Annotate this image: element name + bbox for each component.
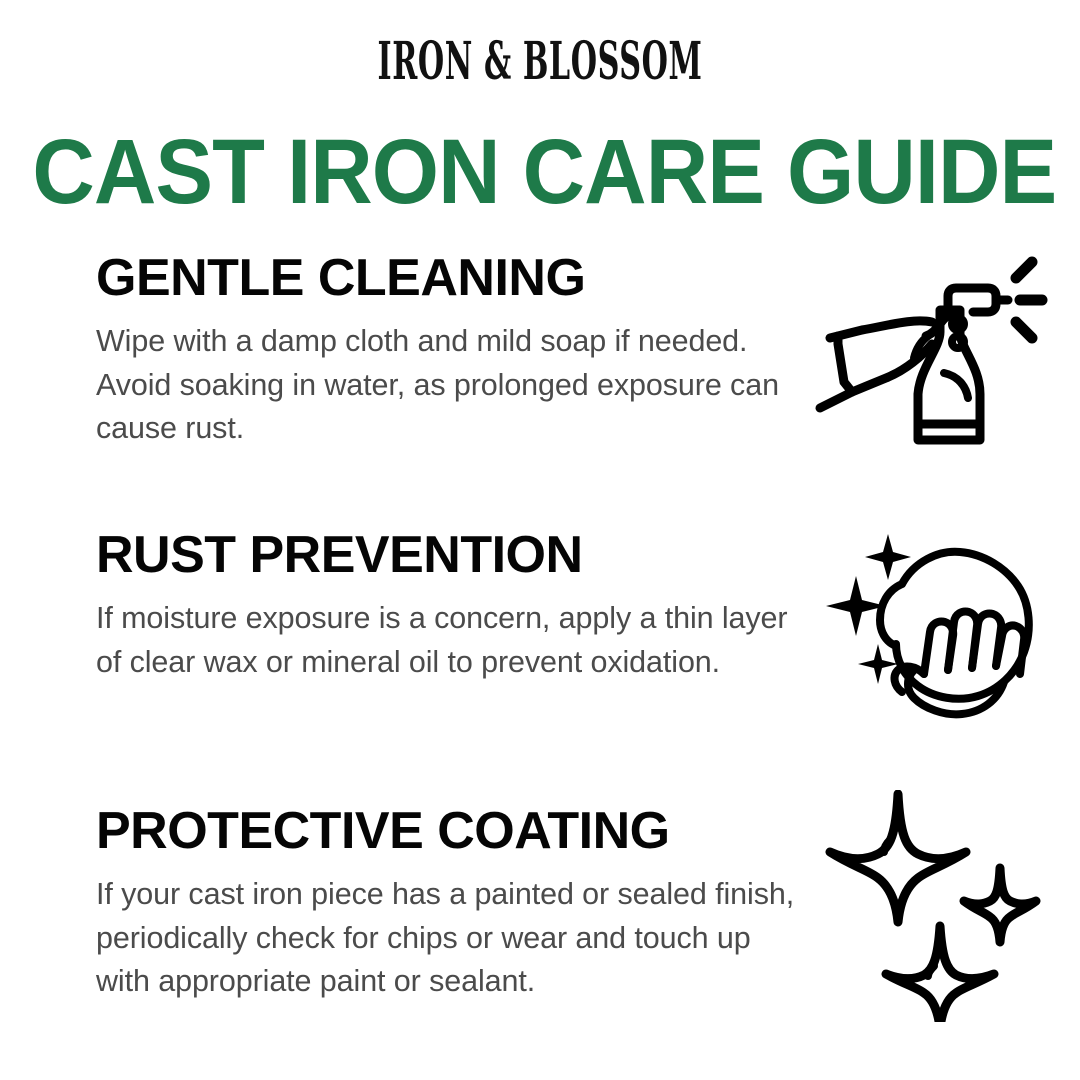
section-body: Wipe with a damp cloth and mild soap if … bbox=[96, 320, 806, 451]
section-protective-coating: PROTECTIVE COATING If your cast iron pie… bbox=[96, 803, 808, 1004]
brand-wordmark: IRON & BLOSSOM bbox=[227, 36, 853, 88]
care-guide-poster: IRON & BLOSSOM CAST IRON CARE GUIDE GENT… bbox=[0, 0, 1080, 1080]
spray-bottle-in-hand-icon bbox=[808, 252, 1050, 462]
section-body: If moisture exposure is a concern, apply… bbox=[96, 597, 806, 684]
section-heading: PROTECTIVE COATING bbox=[96, 803, 808, 859]
section-heading: GENTLE CLEANING bbox=[96, 250, 808, 306]
section-body: If your cast iron piece has a painted or… bbox=[96, 873, 806, 1004]
section-gentle-cleaning: GENTLE CLEANING Wipe with a damp cloth a… bbox=[96, 250, 808, 451]
page-title: CAST IRON CARE GUIDE bbox=[32, 126, 1047, 218]
three-sparkles-icon bbox=[818, 790, 1050, 1022]
section-rust-prevention: RUST PREVENTION If moisture exposure is … bbox=[96, 527, 808, 684]
hand-wiping-cloth-sparkles-icon bbox=[818, 528, 1046, 728]
section-heading: RUST PREVENTION bbox=[96, 527, 808, 583]
